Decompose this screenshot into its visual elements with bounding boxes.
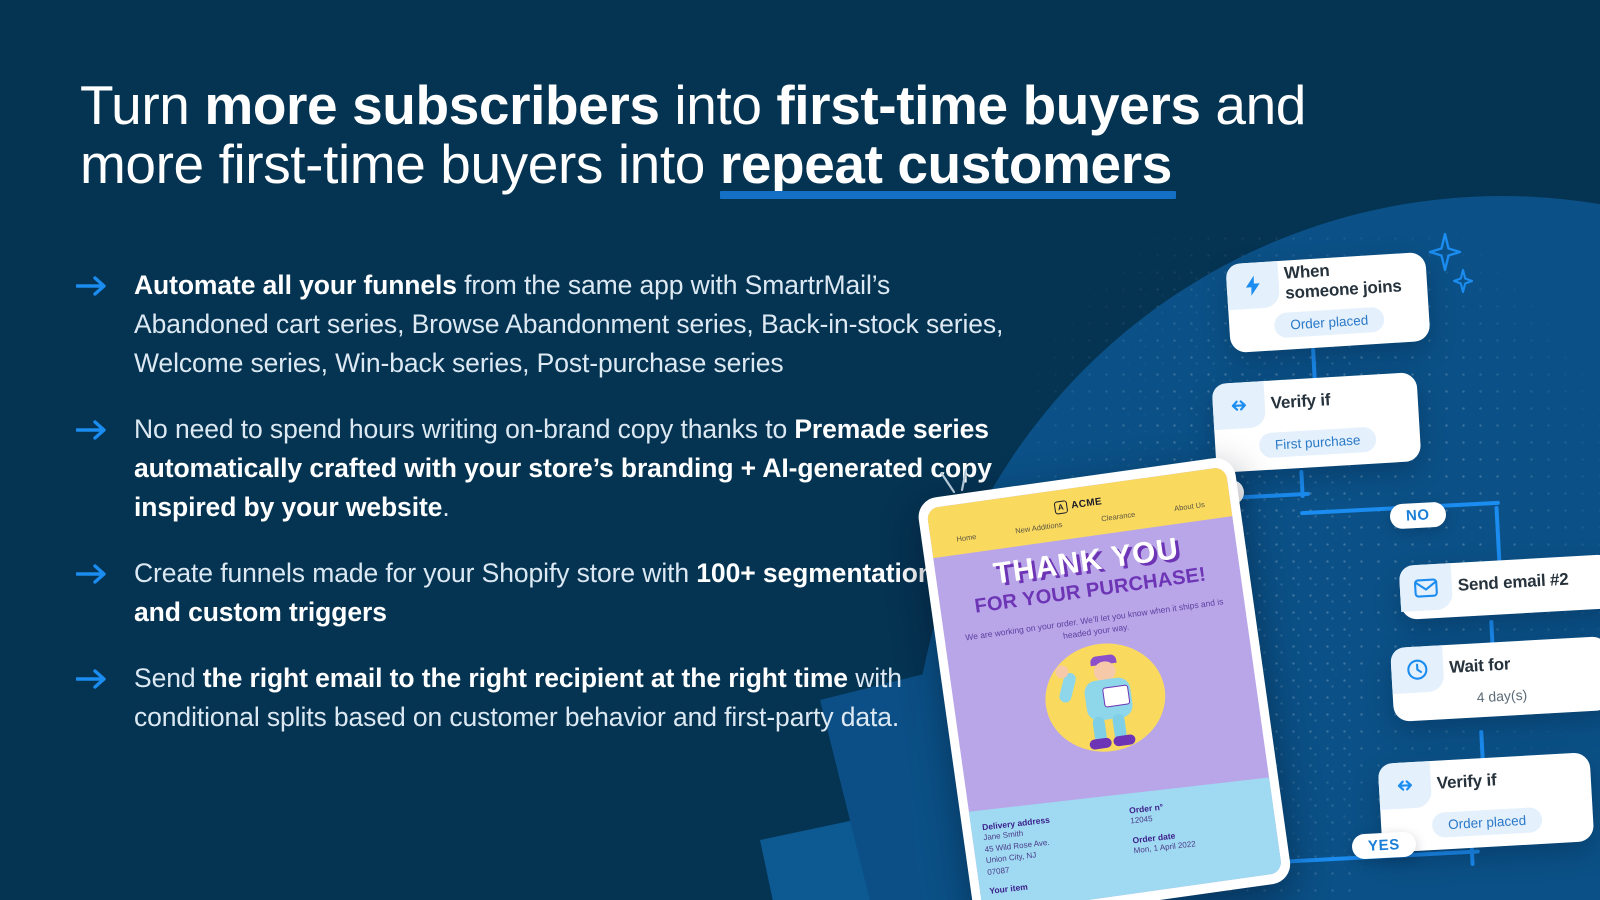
acme-logo-mark: A (1054, 500, 1069, 515)
order-meta-column: Order n° 12045 Order date Mon, 1 April 2… (1129, 790, 1271, 879)
flow-node-header: Verify if (1378, 752, 1592, 810)
figure-shoe (1089, 737, 1112, 750)
email-nav-item-new[interactable]: New Additions (1015, 520, 1063, 536)
order-date-block: Order date Mon, 1 April 2022 (1132, 819, 1268, 856)
email-nav-item-about[interactable]: About Us (1174, 500, 1206, 513)
figure-package (1102, 684, 1131, 707)
flow-node-title: Verify if (1436, 769, 1517, 793)
branch-label-no: NO (1389, 502, 1446, 530)
delivery-address-block: Delivery address Jane Smith 45 Wild Rose… (982, 807, 1122, 878)
flow-node-title: When someone joins (1283, 255, 1427, 304)
flow-node-when-someone-joins[interactable]: When someone joins Order placed (1225, 252, 1430, 353)
split-arrows-icon (1212, 381, 1267, 430)
email-order-details: Delivery address Jane Smith 45 Wild Rose… (964, 776, 1282, 900)
branch-label-yes: YES (1351, 831, 1416, 859)
flow-node-chip[interactable]: First purchase (1258, 427, 1377, 459)
email-preview-screen: A ACME Home New Additions Clearance Abou… (926, 467, 1282, 900)
automation-flow-canvas: When someone joins Order placed Verify i… (0, 0, 1600, 900)
sparkle-icon (1452, 268, 1474, 299)
flow-node-subtitle: 4 day(s) (1476, 687, 1527, 706)
email-illustration (1038, 635, 1172, 759)
flow-node-chip[interactable]: Order placed (1431, 807, 1542, 838)
flow-node-header: Verify if (1212, 372, 1419, 430)
flow-node-header: Wait for (1390, 636, 1600, 694)
split-arrows-icon (1378, 761, 1432, 810)
figure-shoe (1113, 733, 1136, 746)
flow-node-send-email[interactable]: Send email #2 (1399, 554, 1600, 620)
flow-node-title: Verify if (1270, 389, 1351, 414)
flow-node-verify-first-purchase[interactable]: Verify if First purchase (1212, 372, 1422, 473)
delivery-address-column: Delivery address Jane Smith 45 Wild Rose… (982, 807, 1124, 896)
flow-node-title: Wait for (1449, 653, 1531, 677)
flow-node-header: Send email #2 (1399, 554, 1600, 620)
email-preview-device: A ACME Home New Additions Clearance Abou… (916, 455, 1293, 900)
flow-node-header: When someone joins (1225, 252, 1427, 310)
flow-node-title: Send email #2 (1457, 568, 1589, 595)
acme-logo-text: ACME (1071, 496, 1103, 511)
envelope-icon (1399, 563, 1453, 612)
flow-connector (1494, 506, 1501, 566)
email-nav-item-home[interactable]: Home (956, 532, 977, 544)
flow-node-chip[interactable]: Order placed (1274, 307, 1385, 339)
lightning-bolt-icon (1225, 261, 1280, 310)
email-nav-item-clearance[interactable]: Clearance (1101, 510, 1136, 524)
clock-icon (1390, 645, 1444, 694)
flow-node-wait-for[interactable]: Wait for 4 day(s) (1390, 636, 1600, 722)
